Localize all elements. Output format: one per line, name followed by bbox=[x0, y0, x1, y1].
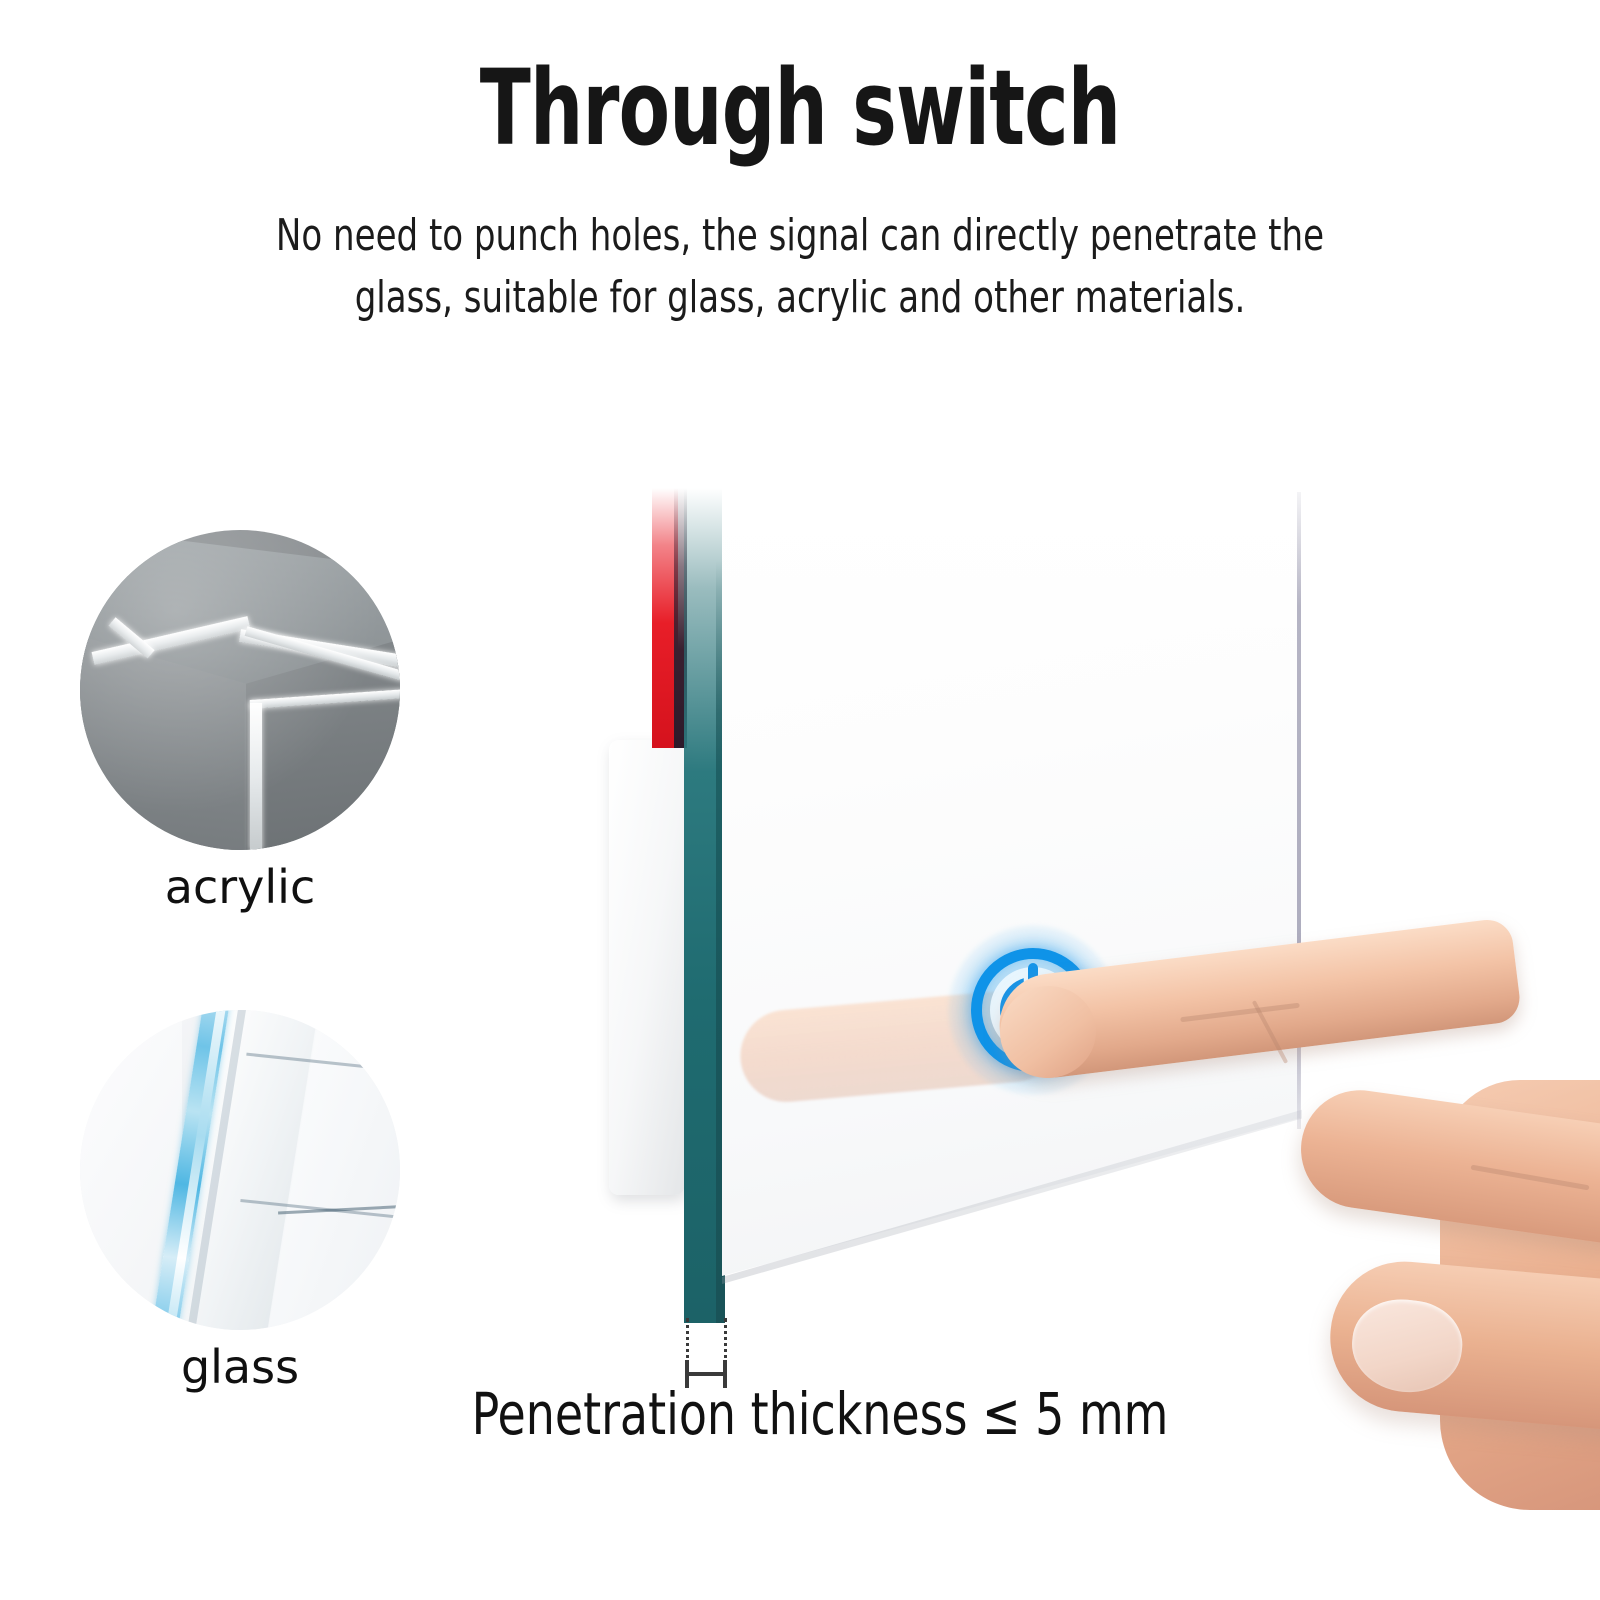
pointing-hand bbox=[0, 0, 1600, 1600]
infographic-page: Through switch No need to punch holes, t… bbox=[0, 0, 1600, 1600]
thickness-caption: Penetration thickness ≤ 5 mm bbox=[468, 1380, 1172, 1448]
dimension-bar bbox=[686, 1372, 727, 1376]
product-scene bbox=[0, 0, 1600, 1600]
